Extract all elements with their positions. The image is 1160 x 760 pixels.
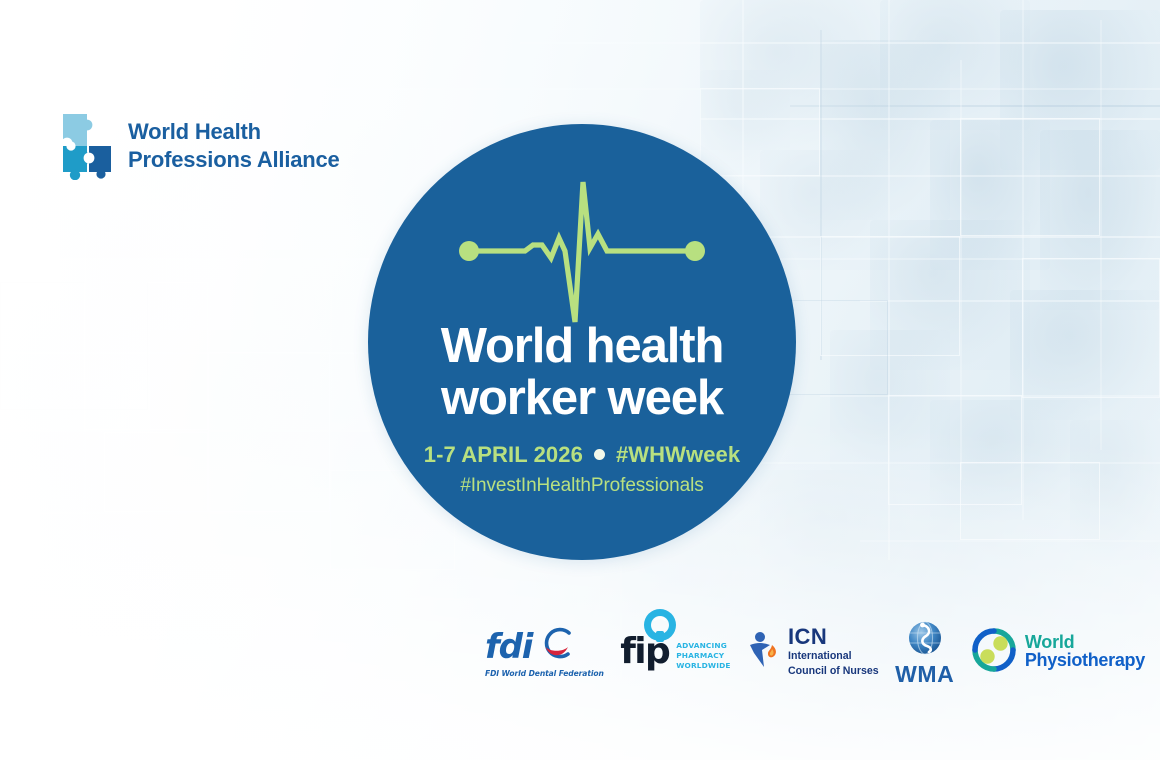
world-physiotherapy-wordmark-line2: Physiotherapy	[1025, 651, 1145, 670]
fdi-wordmark: fdi	[485, 630, 532, 664]
fip-mortar-pestle-circle-icon	[642, 607, 678, 648]
fip-tagline-line1: ADVANCING	[676, 641, 730, 651]
whpa-logo-text: World Health Professions Alliance	[128, 118, 340, 174]
badge-title-line2: worker week	[368, 372, 796, 424]
partner-logo-world-physiotherapy[interactable]: World Physiotherapy	[971, 627, 1145, 678]
wma-globe-serpent-icon	[902, 619, 948, 666]
badge-title: World health worker week	[368, 320, 796, 425]
badge-dates: 1-7 APRIL 2026	[424, 442, 583, 468]
fip-tagline: ADVANCING PHARMACY WORLDWIDE	[676, 641, 730, 671]
icn-figure-flame-icon	[747, 629, 781, 676]
badge-date-row: 1-7 APRIL 2026 #WHWweek	[424, 442, 740, 468]
icn-wordmark: ICN	[788, 626, 879, 648]
main-badge: World health worker week 1-7 APRIL 2026 …	[368, 124, 796, 560]
badge-hashtag: #WHWweek	[616, 442, 740, 468]
physio-circle-pinwheel-icon	[971, 627, 1017, 678]
poster-canvas: World Health Professions Alliance World …	[0, 0, 1160, 760]
whpa-logo-line1: World Health	[128, 118, 340, 146]
icn-tagline-line2: Council of Nurses	[788, 665, 879, 678]
wma-wordmark: WMA	[895, 663, 954, 686]
fdi-tagline: FDI World Dental Federation	[485, 669, 604, 678]
fip-tagline-line2: PHARMACY	[676, 651, 730, 661]
ecg-heartbeat-icon	[447, 124, 717, 326]
whpa-logo: World Health Professions Alliance	[57, 112, 340, 180]
partner-logo-fdi[interactable]: fdi FDI World Dental Federation	[485, 627, 604, 678]
partner-logo-strip: fdi FDI World Dental Federation fi	[485, 612, 1145, 692]
partner-logo-fip[interactable]: fip ADVANCING PHARMACY WORLDWIDE	[620, 633, 730, 671]
icn-tagline-line1: International	[788, 650, 879, 663]
bullet-dot-icon	[594, 449, 605, 460]
badge-secondary-hashtag: #InvestInHealthProfessionals	[460, 475, 703, 497]
puzzle-pieces-icon	[57, 112, 113, 180]
world-physiotherapy-wordmark-line1: World	[1025, 633, 1145, 651]
whpa-logo-line2: Professions Alliance	[128, 146, 340, 174]
badge-title-line1: World health	[368, 320, 796, 372]
fip-tagline-line3: WORLDWIDE	[676, 661, 730, 671]
fdi-swoosh-icon	[537, 627, 573, 668]
partner-logo-icn[interactable]: ICN International Council of Nurses	[747, 626, 879, 678]
partner-logo-wma[interactable]: WMA	[895, 619, 954, 686]
